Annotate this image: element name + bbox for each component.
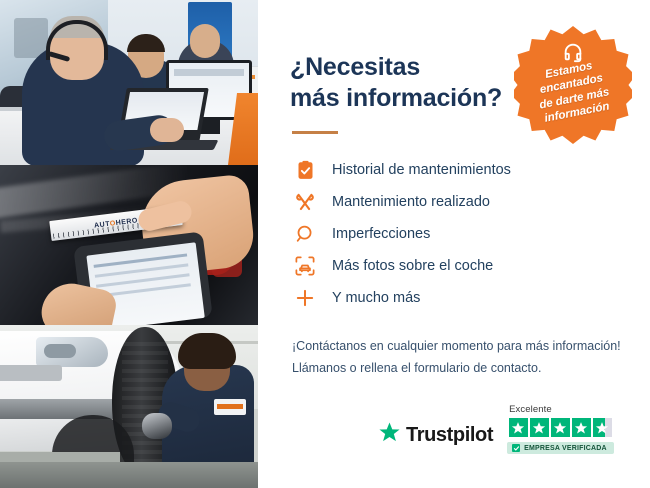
info-banner: AUTOHERO	[0, 0, 650, 488]
contact-line-1: ¡Contáctanos en cualquier momento para m…	[292, 339, 621, 353]
call-center-agents-photo	[0, 0, 258, 165]
feature-item-imperfections: Imperfecciones	[292, 218, 626, 250]
rating-star-4	[572, 418, 591, 437]
content-panel: ¿Necesitas más información? Estamos enca…	[258, 0, 650, 488]
feature-item-maintenance-history: Historial de mantenimientos	[292, 154, 626, 186]
mechanic-glove	[142, 413, 172, 439]
vehicle-inspection-photo: AUTOHERO	[0, 165, 258, 325]
mechanic-uniform-logo	[214, 399, 246, 415]
feature-label: Imperfecciones	[332, 226, 430, 242]
car-lift-arm	[0, 452, 120, 462]
rating-star-1	[509, 418, 528, 437]
page-title: ¿Necesitas más información?	[290, 52, 535, 113]
headline-line-2: más información?	[290, 84, 502, 112]
trustpilot-widget[interactable]: Trustpilot Excelente	[378, 404, 614, 454]
agent-hand	[150, 118, 184, 142]
verified-company-badge: EMPRESA VERIFICADA	[507, 442, 614, 454]
car-photo-frame-icon	[292, 253, 318, 279]
trustpilot-rating-label: Excelente	[509, 404, 552, 415]
ruler-brand-text: AUTOHERO	[94, 217, 138, 229]
mechanic-wheel-photo	[0, 325, 258, 488]
trustpilot-star-rating	[509, 418, 612, 437]
tools-cross-icon	[292, 189, 318, 215]
car-headlight	[36, 337, 108, 367]
feature-label: Mantenimiento realizado	[332, 194, 490, 210]
background-agent-2-head	[190, 24, 220, 58]
car-upper-grille	[0, 365, 62, 381]
support-badge: Estamos encantados de darte más informac…	[514, 26, 632, 144]
feature-item-maintenance-done: Mantenimiento realizado	[292, 186, 626, 218]
rating-star-3	[551, 418, 570, 437]
headset-icon	[562, 41, 584, 63]
feature-label: Más fotos sobre el coche	[332, 258, 493, 274]
trustpilot-logo[interactable]: Trustpilot	[378, 421, 493, 454]
trustpilot-star-icon	[378, 421, 401, 449]
photo-column: AUTOHERO	[0, 0, 258, 488]
feature-label: Historial de mantenimientos	[332, 162, 511, 178]
feature-item-much-more: Y mucho más	[292, 282, 626, 314]
check-square-icon	[512, 444, 520, 452]
feature-label: Y mucho más	[332, 290, 420, 306]
rating-star-5-partial	[593, 418, 612, 437]
plus-icon	[292, 285, 318, 311]
trustpilot-rating-block: Excelente	[507, 404, 614, 454]
verified-label: EMPRESA VERIFICADA	[524, 445, 607, 452]
mechanic-hair	[178, 333, 236, 369]
workshop-floor	[0, 462, 258, 488]
rating-star-2	[530, 418, 549, 437]
contact-copy: ¡Contáctanos en cualquier momento para m…	[292, 336, 626, 379]
feature-list: Historial de mantenimientos Mantenimient…	[292, 154, 626, 314]
contact-line-2: Llámanos o rellena el formulario de cont…	[292, 361, 541, 375]
trustpilot-wordmark: Trustpilot	[406, 424, 493, 447]
magnifier-icon	[292, 221, 318, 247]
feature-item-more-photos: Más fotos sobre el coche	[292, 250, 626, 282]
headline-line-1: ¿Necesitas	[290, 53, 420, 81]
title-divider	[292, 131, 338, 134]
clipboard-check-icon	[292, 157, 318, 183]
